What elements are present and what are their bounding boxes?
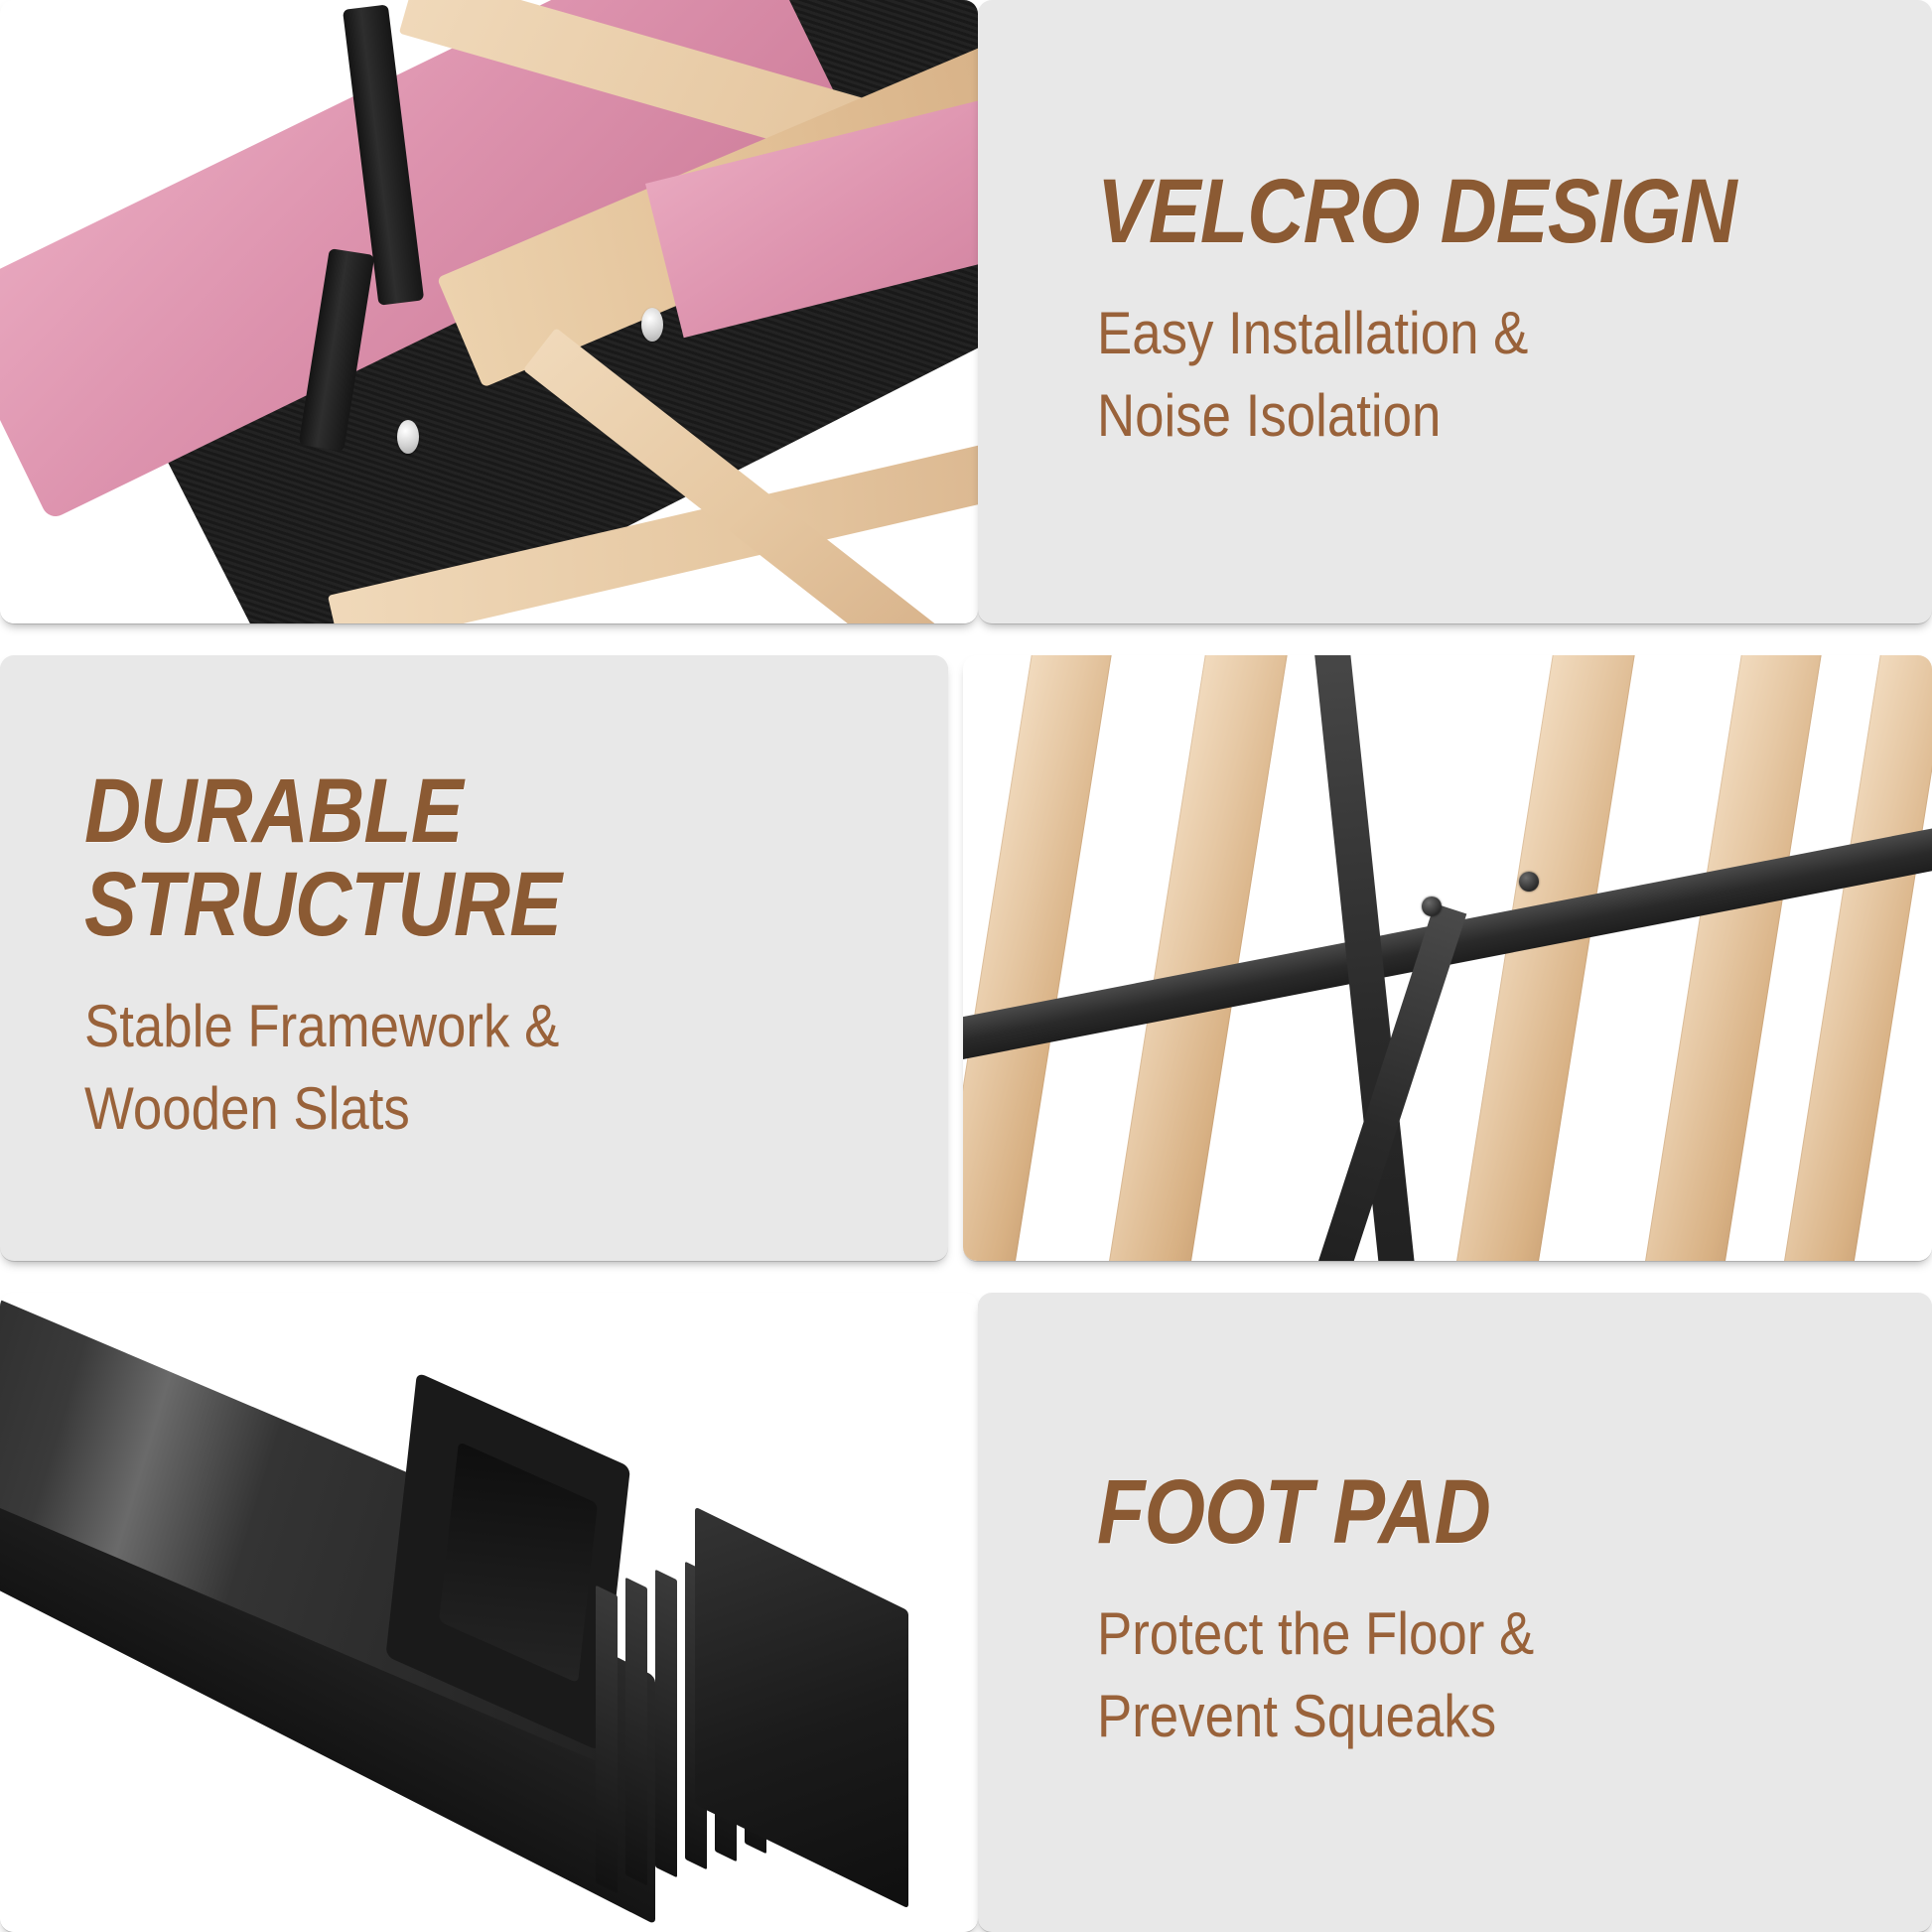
- foot-pad-subtitle: Protect the Floor & Prevent Squeaks: [1097, 1593, 1832, 1758]
- foot-pad-fin-1: [596, 1586, 618, 1894]
- wood-slat-5: [1620, 655, 1826, 1261]
- screw-2: [397, 420, 419, 454]
- velcro-design-subtitle: Easy Installation & Noise Isolation: [1097, 293, 1832, 458]
- foot-pad-fin-2: [625, 1578, 647, 1886]
- feature-row-foot-pad: FOOT PAD Protect the Floor & Prevent Squ…: [0, 1293, 1932, 1932]
- bolt-2: [1519, 872, 1539, 892]
- velcro-design-image: [0, 0, 978, 623]
- foot-pad-heading: FOOT PAD: [1097, 1466, 1815, 1560]
- durable-structure-subtitle: Stable Framework & Wooden Slats: [84, 986, 845, 1151]
- durable-structure-image: [963, 655, 1932, 1261]
- feature-row-velcro-design: VELCRO DESIGN Easy Installation & Noise …: [0, 0, 1932, 623]
- durable-structure-heading: DURABLE STRUCTURE: [84, 765, 827, 952]
- velcro-design-text-panel: VELCRO DESIGN Easy Installation & Noise …: [978, 0, 1932, 623]
- velcro-design-heading: VELCRO DESIGN: [1097, 166, 1815, 259]
- foot-pad-text-panel: FOOT PAD Protect the Floor & Prevent Squ…: [978, 1293, 1932, 1932]
- velcro-scene: [0, 0, 978, 623]
- infographic-board: VELCRO DESIGN Easy Installation & Noise …: [0, 0, 1932, 1932]
- feature-row-durable-structure: DURABLE STRUCTURE Stable Framework & Woo…: [0, 655, 1932, 1261]
- bolt-1: [1422, 897, 1442, 916]
- foot-pad-scene: [0, 1293, 978, 1932]
- slat-frame-scene: [963, 655, 1932, 1261]
- durable-structure-text-panel: DURABLE STRUCTURE Stable Framework & Woo…: [0, 655, 948, 1261]
- wood-slat-2: [963, 655, 1116, 1261]
- screw-1: [641, 308, 663, 342]
- foot-pad-image: [0, 1293, 978, 1932]
- foot-pad-fin-3: [655, 1570, 677, 1878]
